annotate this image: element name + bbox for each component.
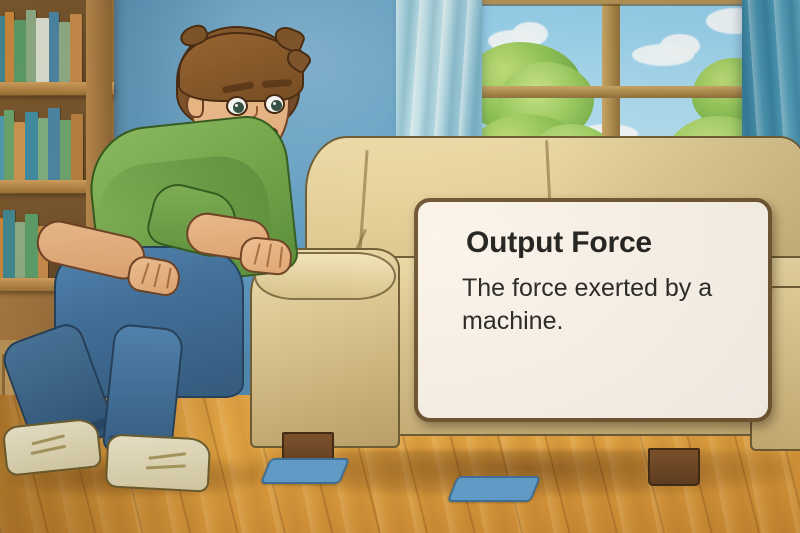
furniture-slider — [447, 476, 542, 502]
shoelace — [30, 445, 66, 455]
shoelace — [146, 464, 186, 469]
shoe-back — [2, 417, 103, 477]
definition-card: Output Force The force exerted by a mach… — [414, 198, 772, 422]
finger-line — [279, 247, 283, 268]
shoelace — [31, 434, 65, 445]
pupil-right — [271, 100, 282, 111]
card-title: Output Force — [466, 228, 742, 258]
finger-line — [153, 264, 161, 288]
finger-line — [254, 243, 261, 265]
finger-line — [141, 263, 150, 285]
shoe-front — [105, 433, 212, 492]
card-body: The force exerted by a machine. — [462, 272, 742, 338]
finger-line — [166, 268, 172, 289]
character-boy[interactable] — [0, 10, 330, 510]
shoelace — [148, 452, 186, 460]
finger-line — [266, 243, 272, 267]
sofa-leg — [648, 448, 700, 486]
illustration-scene: Output Force The force exerted by a mach… — [0, 0, 800, 533]
eye-right — [264, 94, 285, 114]
